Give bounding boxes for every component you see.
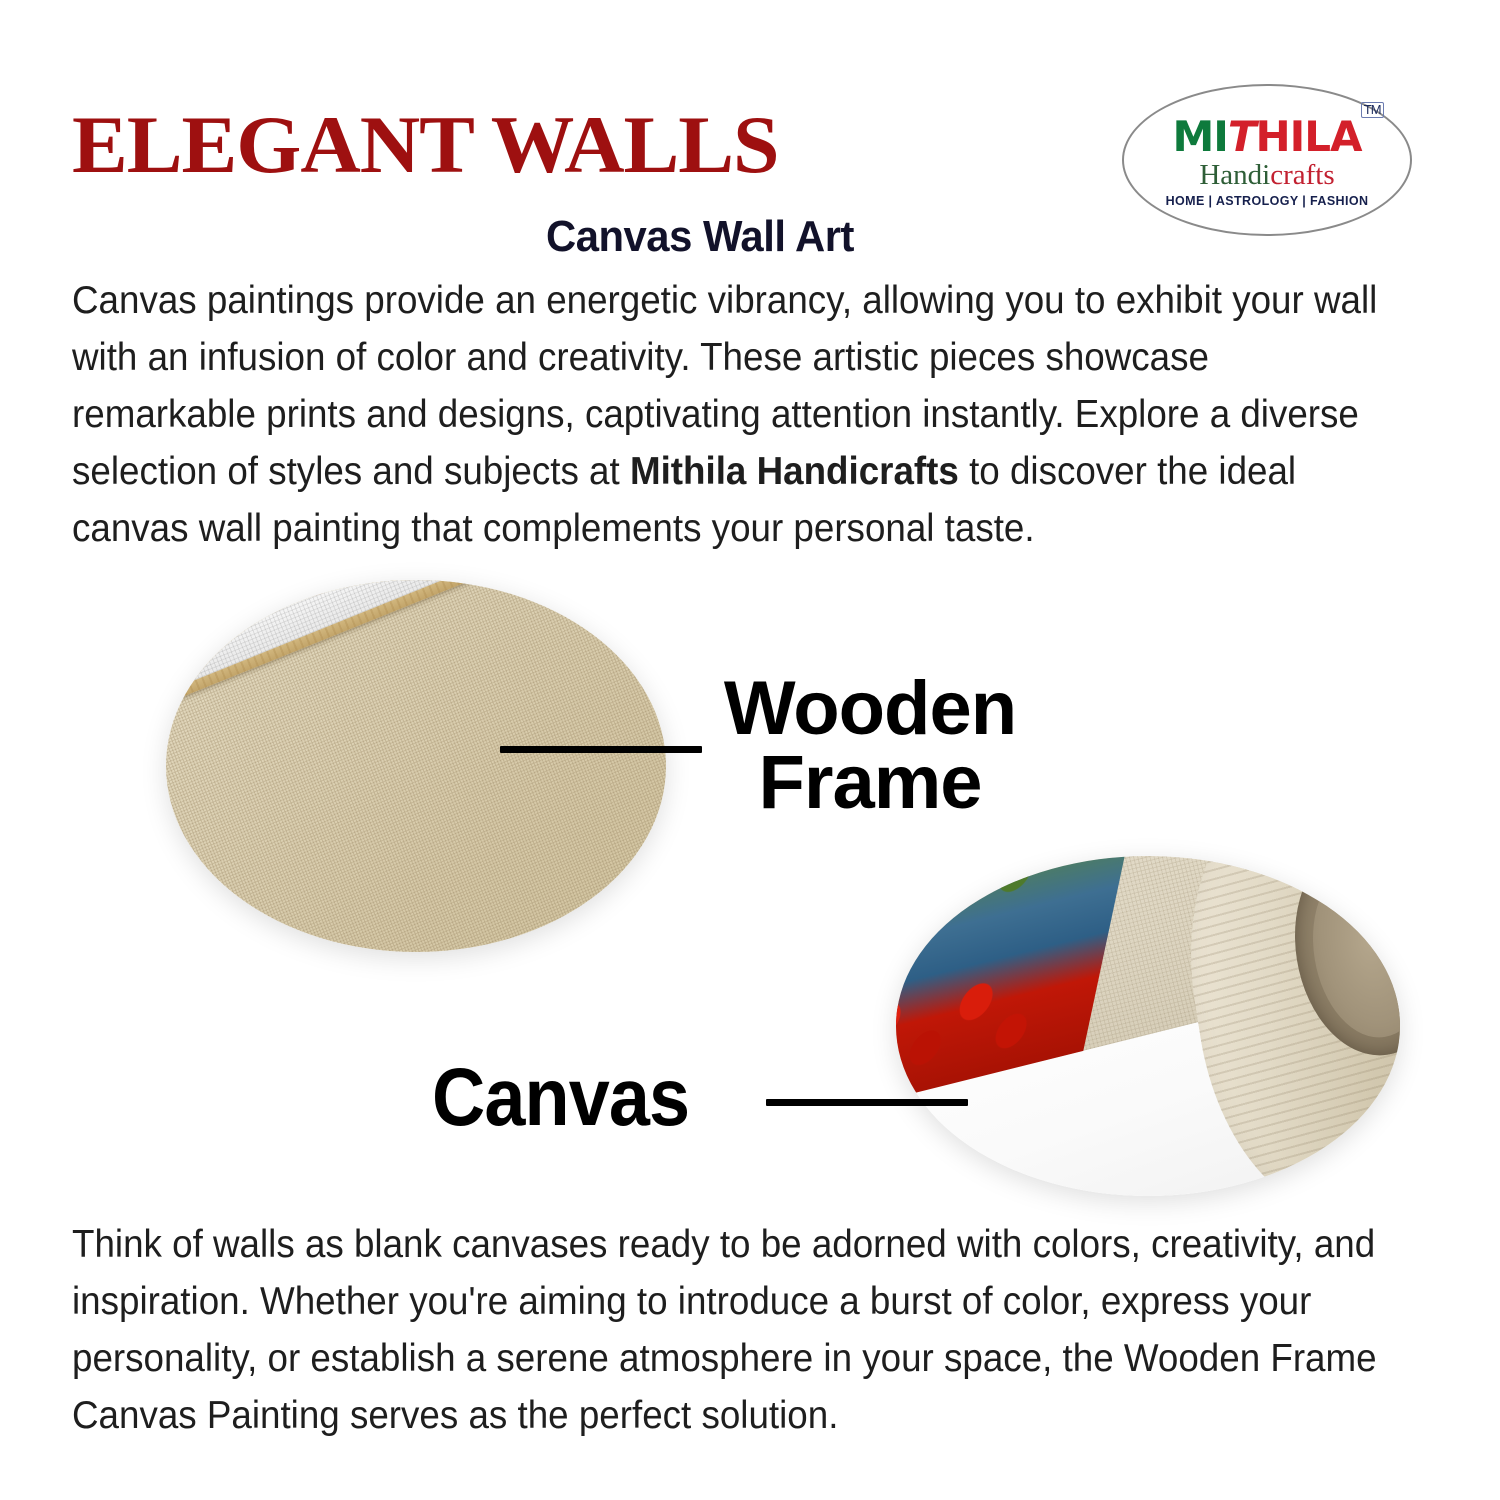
wooden-frame-label-line1: Wooden xyxy=(700,672,1040,746)
logo-wordmark-part1: MI xyxy=(1172,112,1227,161)
wooden-frame-photo xyxy=(166,580,666,952)
logo-subtitle-part2: crafts xyxy=(1270,159,1334,191)
trademark-icon: TM xyxy=(1361,102,1384,118)
intro-paragraph: Canvas paintings provide an energetic vi… xyxy=(72,272,1378,557)
logo-subtitle: Handicrafts xyxy=(1199,161,1334,190)
logo-subtitle-part1: Handi xyxy=(1199,159,1270,191)
logo-wordmark-part3: HILA xyxy=(1256,112,1362,161)
brand-mention: Mithila Handicrafts xyxy=(630,450,959,493)
logo-wordmark: MITHILA TM xyxy=(1172,116,1361,158)
wooden-frame-leader-line xyxy=(500,746,702,753)
logo-wordmark-part2: T xyxy=(1228,116,1256,158)
wooden-frame-label: Wooden Frame xyxy=(700,672,1040,821)
infographic-page: ELEGANT WALLS MITHILA TM Handicrafts HOM… xyxy=(0,0,1500,1500)
closing-paragraph: Think of walls as blank canvases ready t… xyxy=(72,1216,1378,1444)
canvas-label: Canvas xyxy=(432,1058,689,1138)
canvas-roll-photo-inner xyxy=(896,856,1400,1196)
logo-tagline: HOME | ASTROLOGY | FASHION xyxy=(1166,194,1369,208)
section-subtitle: Canvas Wall Art xyxy=(35,212,1365,262)
canvas-roll-photo xyxy=(896,856,1400,1196)
wooden-frame-label-line2: Frame xyxy=(700,746,1040,820)
page-title: ELEGANT WALLS xyxy=(72,104,779,186)
canvas-leader-line xyxy=(766,1099,968,1106)
wooden-frame-photo-inner xyxy=(166,580,666,952)
